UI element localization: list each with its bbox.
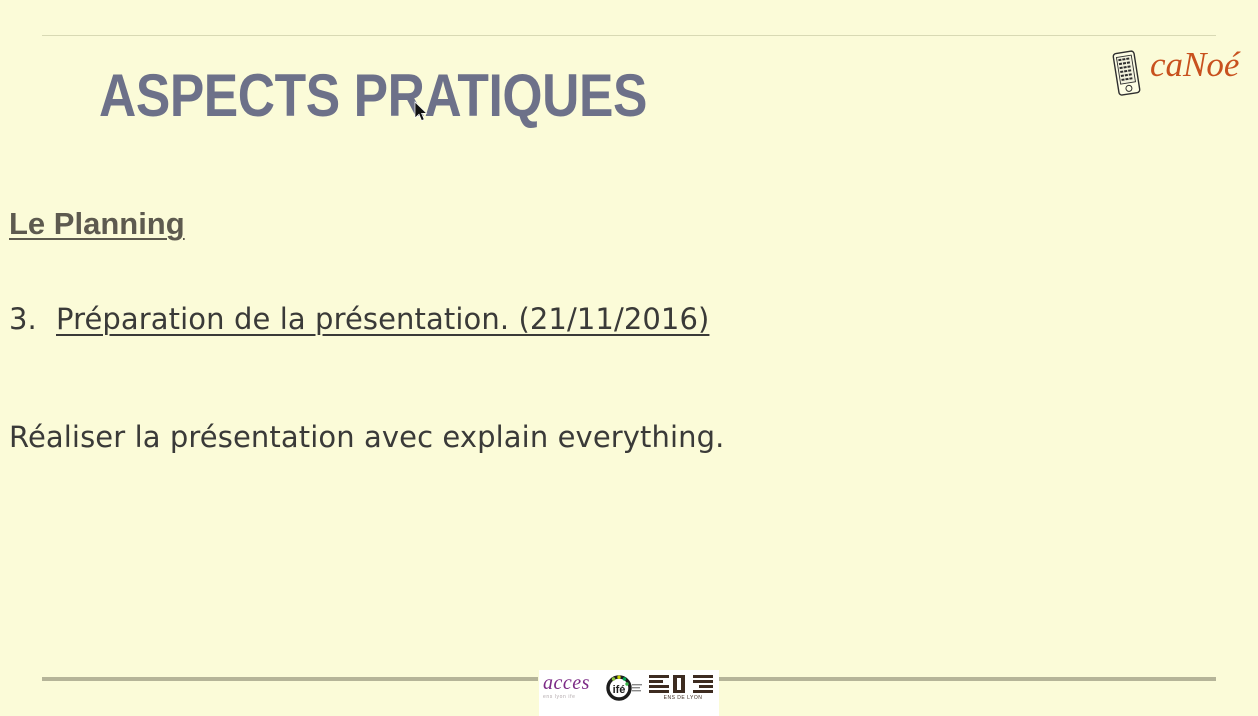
slide-title: ASPECTS PRATIQUES bbox=[99, 66, 647, 126]
list-item-marker: 3. bbox=[9, 302, 56, 337]
svg-text:ifé: ifé bbox=[613, 684, 626, 696]
acces-logo: acces ens lyon ife bbox=[543, 673, 603, 703]
footer-logo-strip: acces ens lyon ife ifé bbox=[539, 670, 719, 716]
body-paragraph: Réaliser la présentation avec explain ev… bbox=[9, 420, 724, 455]
ens-logo-mark bbox=[649, 675, 717, 695]
tablet-calculator-icon bbox=[1112, 49, 1142, 97]
acces-logo-text: acces bbox=[543, 673, 603, 693]
ife-logo: ifé bbox=[605, 674, 645, 702]
list-item-label: Préparation de la présentation. (21/11/2… bbox=[56, 302, 709, 337]
acces-logo-subtitle: ens lyon ife bbox=[543, 695, 603, 700]
ens-logo-subtitle: ENS DE LYON bbox=[649, 696, 717, 701]
canoe-logo-text: caNoé bbox=[1150, 47, 1239, 82]
list-item: 3. Préparation de la présentation. (21/1… bbox=[9, 302, 709, 337]
ens-logo: ENS DE LYON bbox=[649, 675, 717, 707]
footer-divider-left bbox=[42, 677, 538, 681]
footer-divider-right bbox=[719, 677, 1216, 681]
section-heading: Le Planning bbox=[9, 207, 185, 241]
header-divider bbox=[42, 35, 1216, 36]
canoe-logo: caNoé bbox=[1108, 45, 1253, 105]
presentation-slide: ASPECTS PRATIQUES caNoé Le Planning 3 bbox=[0, 0, 1258, 716]
